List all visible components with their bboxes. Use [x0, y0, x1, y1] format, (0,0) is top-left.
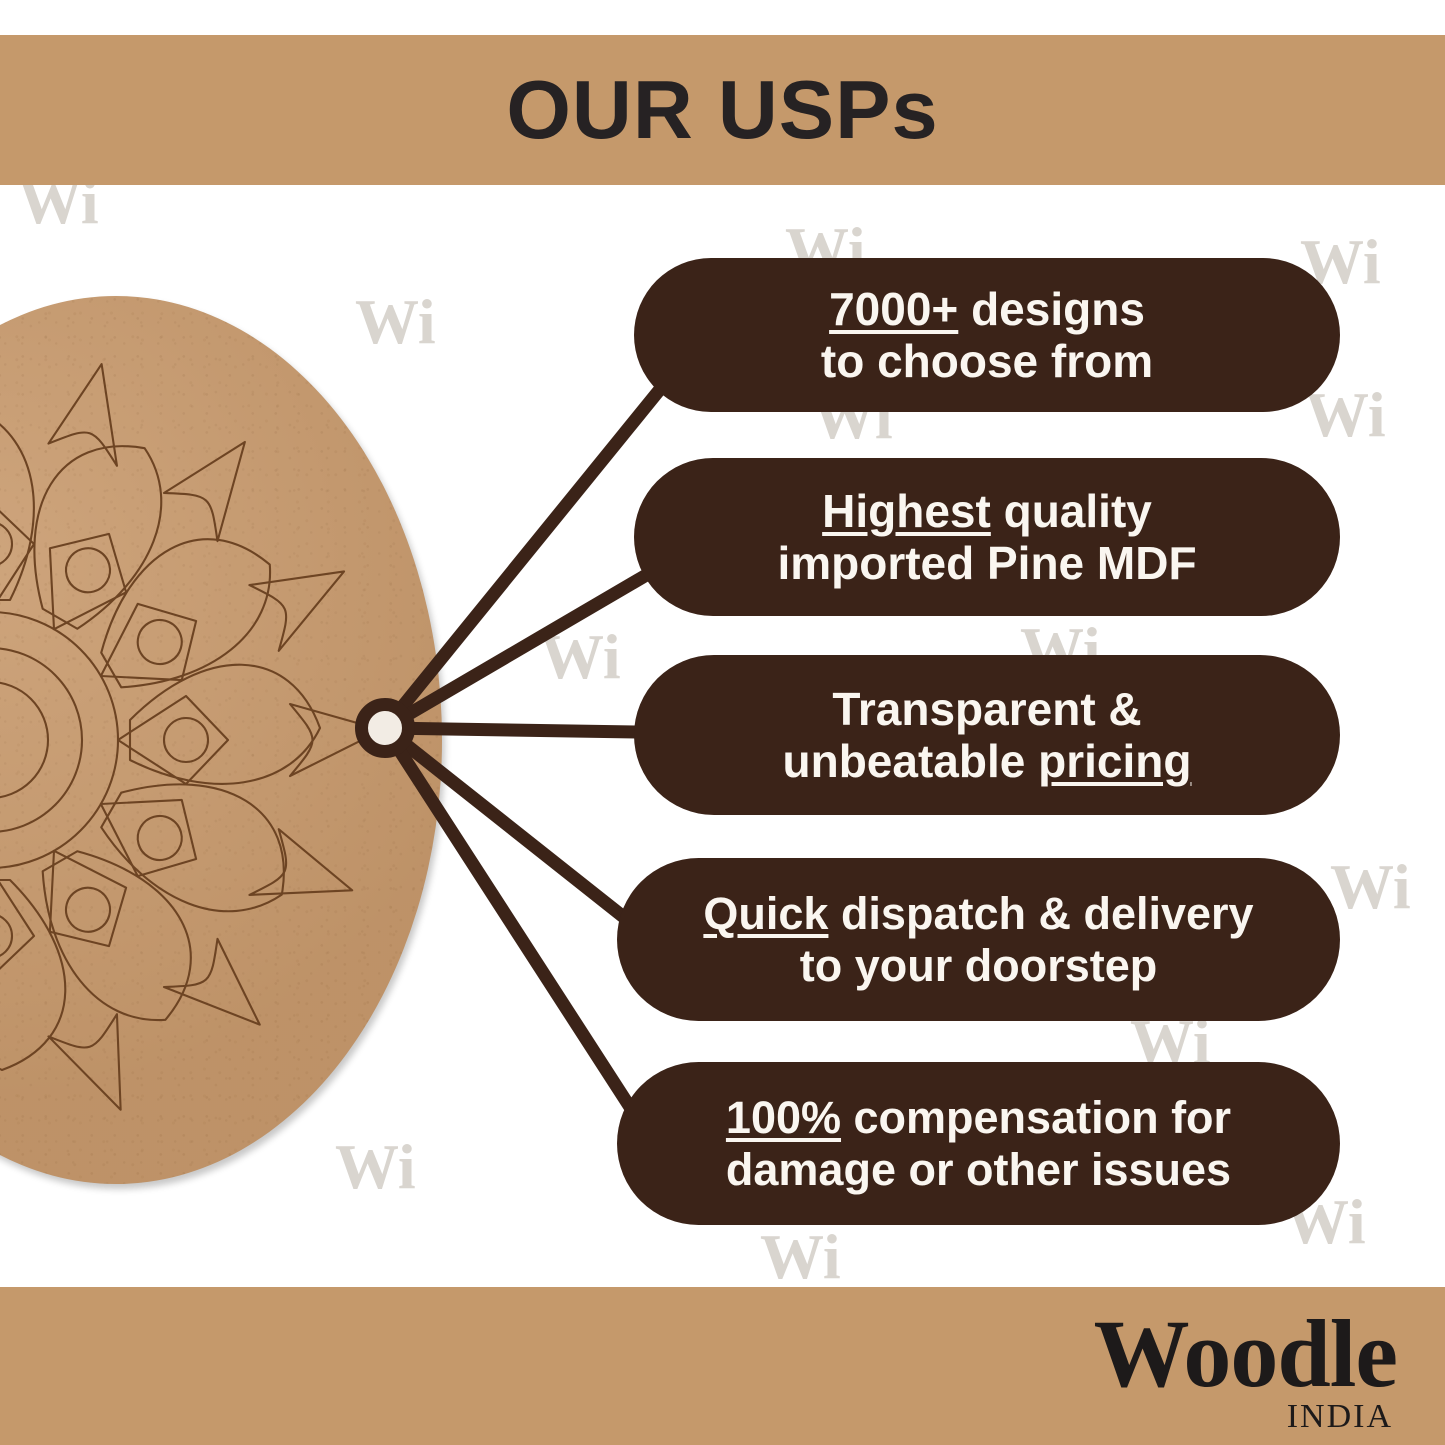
usp-line-2: imported Pine MDF: [777, 537, 1196, 589]
usp-highlight: Quick: [703, 888, 828, 939]
usp-pill-pricing[interactable]: Transparent & unbeatable pricing: [634, 655, 1340, 815]
connector-line-2: [385, 560, 672, 728]
hub-node-icon: [355, 698, 415, 758]
usp-line-1: 7000+ designs: [821, 283, 1153, 335]
usp-pill-dispatch-delivery[interactable]: Quick dispatch & delivery to your doorst…: [617, 858, 1340, 1021]
usp-line-2: to your doorstep: [703, 940, 1253, 991]
usp-text: 100% compensation for damage or other is…: [726, 1092, 1231, 1195]
page-title: OUR USPs: [0, 35, 1445, 185]
usp-highlight: 7000+: [829, 283, 958, 335]
usp-text: Highest quality imported Pine MDF: [777, 485, 1196, 590]
usp-line-2: damage or other issues: [726, 1144, 1231, 1195]
connector-line-5: [385, 728, 648, 1135]
usp-highlight: Highest: [822, 485, 991, 537]
brand-logo: Woodle INDIA: [1094, 1310, 1397, 1434]
usp-line-1: Quick dispatch & delivery: [703, 888, 1253, 939]
usp-line-1: Transparent &: [783, 683, 1192, 735]
usp-text: Transparent & unbeatable pricing: [783, 683, 1192, 788]
usp-line-2: unbeatable pricing: [783, 735, 1192, 787]
usp-text: Quick dispatch & delivery to your doorst…: [703, 888, 1253, 991]
usp-highlight: pricing: [1038, 735, 1191, 787]
usp-pill-material-quality[interactable]: Highest quality imported Pine MDF: [634, 458, 1340, 616]
usp-line-2: to choose from: [821, 335, 1153, 387]
usp-line-1: Highest quality: [777, 485, 1196, 537]
usp-text: 7000+ designs to choose from: [821, 283, 1153, 388]
usp-infographic-page: Wi Wi Wi Wi Wi Wi Wi Wi Wi Wi Wi Wi Wi O…: [0, 0, 1445, 1445]
brand-name: Woodle: [1094, 1310, 1397, 1398]
connector-line-4: [385, 728, 640, 930]
usp-pill-designs-count[interactable]: 7000+ designs to choose from: [634, 258, 1340, 412]
usp-highlight: 100%: [726, 1092, 841, 1143]
usp-pill-compensation[interactable]: 100% compensation for damage or other is…: [617, 1062, 1340, 1225]
usp-line-1: 100% compensation for: [726, 1092, 1231, 1143]
